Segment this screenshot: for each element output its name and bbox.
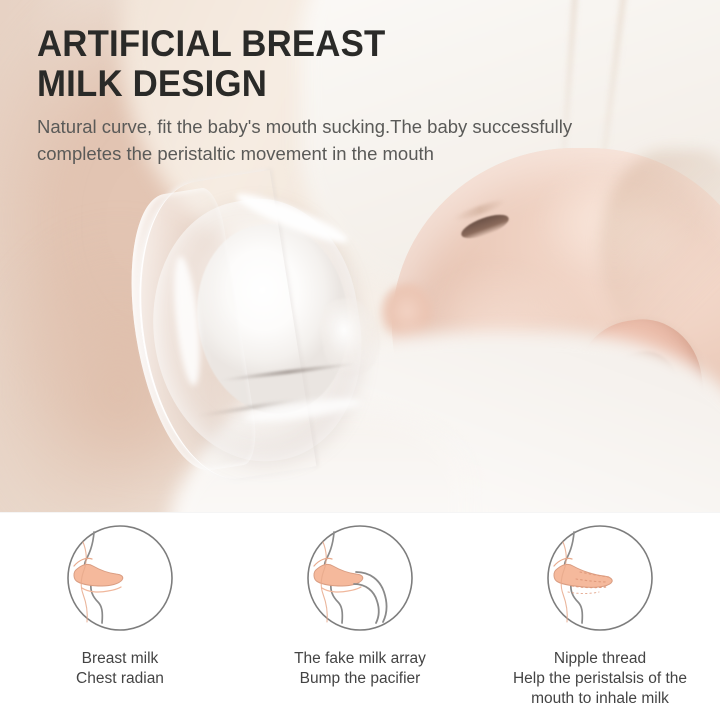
diagram-card-nipple-thread: Nipple thread Help the peristalsis of th… <box>480 512 720 709</box>
silicone-nipple-shield <box>136 170 386 490</box>
diagram-card-breast-milk: Breast milk Chest radian <box>0 512 240 689</box>
diagram-card-fake-milk-array: The fake milk array Bump the pacifier <box>240 512 480 689</box>
mouth-profile-breast-icon <box>64 522 176 639</box>
page-title: ARTIFICIAL BREAST MILK DESIGN <box>37 24 639 104</box>
mouth-profile-pacifier-icon <box>304 522 416 639</box>
diagram-caption: The fake milk array Bump the pacifier <box>294 649 426 689</box>
diagram-caption: Breast milk Chest radian <box>76 649 164 689</box>
mouth-profile-thread-icon <box>544 522 656 639</box>
feature-diagrams-section: Breast milk Chest radian T <box>0 512 720 720</box>
hero-photo-section: ARTIFICIAL BREAST MILK DESIGN Natural cu… <box>0 0 720 512</box>
diagram-caption: Nipple thread Help the peristalsis of th… <box>513 649 687 709</box>
page-subtitle: Natural curve, fit the baby's mouth suck… <box>37 113 685 167</box>
diagram-list: Breast milk Chest radian T <box>0 512 720 720</box>
product-infographic: ARTIFICIAL BREAST MILK DESIGN Natural cu… <box>0 0 720 720</box>
